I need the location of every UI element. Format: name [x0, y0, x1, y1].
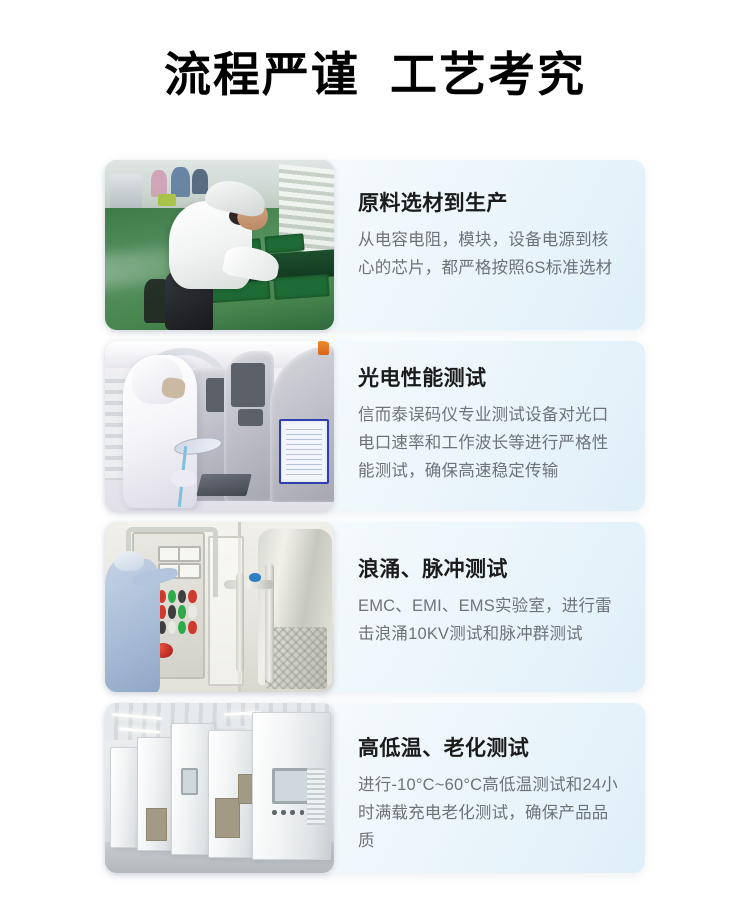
feature-card[interactable]: 高低温、老化测试 进行-10°C~60°C高低温测试和24小时满载充电老化测试，… [105, 703, 645, 873]
card-description: EMC、EMI、EMS实验室，进行雷击浪涌10KV测试和脉冲群测试 [358, 592, 623, 648]
tank-mesh-shape [265, 627, 327, 688]
card-photo-aging-chambers [105, 703, 334, 873]
card-title: 浪涌、脉冲测试 [358, 556, 623, 584]
worker-glove-shape [171, 470, 196, 487]
panel-button-shape [168, 621, 176, 634]
card-description: 进行-10°C~60°C高低温测试和24小时满载充电老化测试，确保产品品质 [358, 771, 623, 855]
background-worker-shape [192, 169, 208, 195]
cabinet-display-shape [272, 768, 310, 805]
card-title: 光电性能测试 [358, 365, 623, 393]
feature-card[interactable]: 光电性能测试 信而泰误码仪专业测试设备对光口电口速率和工作波长等进行严格性能测试… [105, 341, 645, 511]
keyboard-shape [196, 474, 252, 496]
cabinet-knob-shape [272, 810, 277, 815]
card-photo-production-line [105, 160, 334, 330]
card-body: 光电性能测试 信而泰误码仪专业测试设备对光口电口速率和工作波长等进行严格性能测试… [334, 341, 645, 511]
feature-card[interactable]: 浪涌、脉冲测试 EMC、EMI、EMS实验室，进行雷击浪涌10KV测试和脉冲群测… [105, 522, 645, 692]
card-title: 原料选材到生产 [358, 190, 623, 218]
photo-artwork-cleanroom-test [105, 341, 334, 511]
machine-monitor-shape [231, 363, 265, 407]
pcb-board-shape [274, 274, 330, 300]
card-photo-control-panel [105, 522, 334, 692]
cabinet-knob-row [272, 808, 304, 817]
photo-artwork-control-panel [105, 522, 334, 692]
feature-page: 流程严谨 工艺考究 [0, 0, 750, 900]
card-description: 从电容电阻，模块，设备电源到核心的芯片，都严格按照6S标准选材 [358, 226, 623, 282]
card-title: 高低温、老化测试 [358, 735, 623, 763]
machine-tray-shape [238, 409, 263, 426]
panel-button-shape [178, 621, 186, 634]
page-title: 流程严谨 工艺考究 [0, 46, 750, 104]
card-body: 原料选材到生产 从电容电阻，模块，设备电源到核心的芯片，都严格按照6S标准选材 [334, 160, 645, 330]
panel-display-shape [178, 546, 200, 562]
card-body: 浪涌、脉冲测试 EMC、EMI、EMS实验室，进行雷击浪涌10KV测试和脉冲群测… [334, 522, 645, 692]
cabinet-knob-shape [281, 810, 286, 815]
card-body: 高低温、老化测试 进行-10°C~60°C高低温测试和24小时满载充电老化测试，… [334, 703, 645, 873]
panel-button-shape [188, 605, 196, 618]
photo-artwork-production-line [105, 160, 334, 330]
worker-hairnet-shape [114, 551, 144, 571]
photo-artwork-aging-chambers [105, 703, 334, 873]
machine-display-screen-shape [279, 419, 329, 484]
card-photo-cleanroom-test [105, 341, 334, 511]
cabinet-knob-shape [290, 810, 295, 815]
panel-button-shape [188, 621, 196, 634]
panel-button-shape [168, 590, 176, 603]
pipe-shape [224, 580, 274, 589]
panel-button-shape [178, 605, 186, 618]
card-description: 信而泰误码仪专业测试设备对光口电口速率和工作波长等进行严格性能测试，确保高速稳定… [358, 401, 623, 485]
parts-bin-shape [158, 194, 176, 206]
panel-display-shape [178, 563, 200, 579]
cabinet-knob-shape [300, 810, 305, 815]
panel-button-shape [178, 590, 186, 603]
pipe-shape [236, 573, 244, 672]
feature-card[interactable]: 原料选材到生产 从电容电阻，模块，设备电源到核心的芯片，都严格按照6S标准选材 [105, 160, 645, 330]
cabinet-display-shape [181, 768, 199, 796]
background-worker-shape [171, 167, 189, 198]
cabinet-louver-shape [307, 768, 325, 826]
panel-display-shape [158, 546, 180, 562]
cabinet-vent-shape [215, 798, 240, 837]
valve-shape [249, 573, 260, 582]
status-tower-light-shape [318, 341, 329, 355]
panel-button-shape [168, 605, 176, 618]
feature-card-list: 原料选材到生产 从电容电阻，模块，设备电源到核心的芯片，都严格按照6S标准选材 [105, 160, 645, 884]
pcb-board-shape [265, 233, 305, 253]
panel-button-shape [188, 590, 196, 603]
cabinet-vent-shape [146, 808, 166, 841]
